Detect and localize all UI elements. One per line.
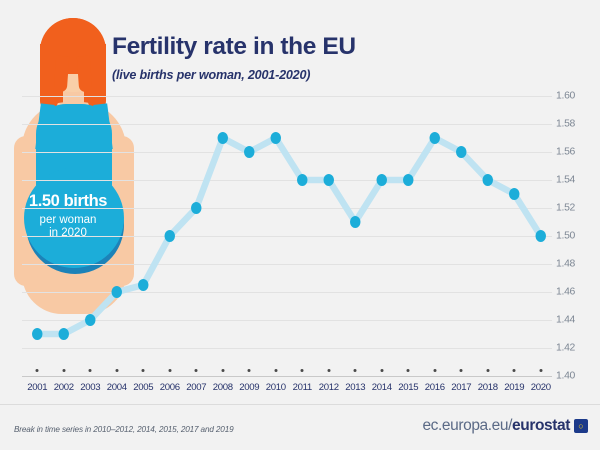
data-point-marker[interactable] <box>85 314 95 326</box>
x-axis-tick-dot <box>460 369 463 372</box>
x-axis-tick-dot <box>248 369 251 372</box>
x-axis-tick-dot <box>513 369 516 372</box>
x-axis-tick-dot <box>36 369 39 372</box>
x-axis-tick-dot <box>89 369 92 372</box>
x-axis-tick-label: 2008 <box>213 382 233 393</box>
hair-middle-left-strand <box>54 56 69 93</box>
x-axis-tick-label: 2009 <box>239 382 259 393</box>
title-block: Fertility rate in the EU (live births pe… <box>112 33 542 75</box>
x-axis-line <box>22 376 552 377</box>
data-point-marker[interactable] <box>350 216 360 228</box>
data-point-marker[interactable] <box>509 188 519 200</box>
footer: Break in time series in 2010–2012, 2014,… <box>0 405 600 450</box>
x-axis-tick-label: 2007 <box>186 382 206 393</box>
footnote-text: Break in time series in 2010–2012, 2014,… <box>14 425 234 434</box>
x-axis-tick-label: 2004 <box>107 382 127 393</box>
data-point-marker[interactable] <box>244 146 254 158</box>
x-axis-tick-dot <box>62 369 65 372</box>
y-axis-tick-label: 1.44 <box>556 315 575 326</box>
brand-text: ec.europa.eu/eurostat <box>422 417 570 435</box>
page-title: Fertility rate in the EU <box>112 33 356 61</box>
x-axis-tick-dot <box>327 369 330 372</box>
x-axis-tick-label: 2005 <box>133 382 153 393</box>
x-axis-tick-dot <box>380 369 383 372</box>
y-axis-tick-label: 1.58 <box>556 119 575 130</box>
x-axis-tick-dot <box>539 369 542 372</box>
data-point-marker[interactable] <box>32 328 42 340</box>
fertility-line-chart <box>22 96 552 376</box>
x-axis-tick-label: 2003 <box>80 382 100 393</box>
data-point-marker[interactable] <box>403 174 413 186</box>
data-point-marker[interactable] <box>483 174 493 186</box>
y-axis-tick-label: 1.60 <box>556 91 575 102</box>
x-axis-tick-dot <box>221 369 224 372</box>
data-point-marker[interactable] <box>191 202 201 214</box>
x-axis-tick-label: 2015 <box>398 382 418 393</box>
data-point-marker[interactable] <box>218 132 228 144</box>
data-point-marker[interactable] <box>377 174 387 186</box>
x-axis-tick-dot <box>115 369 118 372</box>
chart-plot-area <box>22 96 552 376</box>
data-point-marker[interactable] <box>271 132 281 144</box>
x-axis-tick-label: 2017 <box>451 382 471 393</box>
data-point-marker[interactable] <box>324 174 334 186</box>
y-axis-tick-label: 1.50 <box>556 231 575 242</box>
x-axis-tick-dot <box>274 369 277 372</box>
y-axis-tick-label: 1.46 <box>556 287 575 298</box>
data-point-marker[interactable] <box>456 146 466 158</box>
y-axis-tick-label: 1.56 <box>556 147 575 158</box>
data-point-marker[interactable] <box>430 132 440 144</box>
x-axis-tick-dot <box>354 369 357 372</box>
data-point-marker[interactable] <box>59 328 69 340</box>
x-axis-tick-dot <box>142 369 145 372</box>
x-axis-tick-dot <box>168 369 171 372</box>
x-axis-tick-dot <box>433 369 436 372</box>
x-axis-tick-label: 2012 <box>319 382 339 393</box>
x-axis-tick-dot <box>407 369 410 372</box>
data-point-marker[interactable] <box>165 230 175 242</box>
x-axis-tick-label: 2010 <box>266 382 286 393</box>
x-axis-tick-dot <box>301 369 304 372</box>
x-axis-tick-label: 2014 <box>372 382 392 393</box>
data-point-marker[interactable] <box>112 286 122 298</box>
x-axis-tick-label: 2013 <box>345 382 365 393</box>
y-axis-labels: 1.601.581.561.541.521.501.481.461.441.42… <box>556 90 596 382</box>
x-axis-tick-label: 2006 <box>160 382 180 393</box>
x-axis-tick-label: 2002 <box>54 382 74 393</box>
x-axis-tick-label: 2001 <box>27 382 47 393</box>
series-line <box>37 138 541 334</box>
x-axis-tick-label: 2011 <box>293 382 312 393</box>
y-axis-tick-label: 1.42 <box>556 343 575 354</box>
infographic-canvas: 1.50 births per woman in 2020 Fertility … <box>0 0 600 450</box>
x-axis-tick-dot <box>486 369 489 372</box>
data-point-marker[interactable] <box>138 279 148 291</box>
x-axis-tick-label: 2016 <box>425 382 445 393</box>
page-subtitle: (live births per woman, 2001-2020) <box>112 68 310 82</box>
brand-prefix: ec.europa.eu/ <box>422 417 512 434</box>
data-point-marker[interactable] <box>297 174 307 186</box>
y-axis-tick-label: 1.54 <box>556 175 575 186</box>
data-point-marker[interactable] <box>536 230 546 242</box>
x-axis-tick-label: 2018 <box>478 382 498 393</box>
x-axis-tick-label: 2019 <box>504 382 524 393</box>
x-axis-tick-dot <box>195 369 198 372</box>
eurostat-branding[interactable]: ec.europa.eu/eurostat ○ <box>422 417 588 435</box>
y-axis-tick-label: 1.48 <box>556 259 575 270</box>
y-axis-tick-label: 1.52 <box>556 203 575 214</box>
x-axis-labels: 2001200220032004200520062007200820092010… <box>0 378 600 396</box>
brand-name: eurostat <box>512 417 570 434</box>
eu-flag-icon: ○ <box>574 419 588 433</box>
x-axis-tick-label: 2020 <box>531 382 551 393</box>
hair-middle-right-strand <box>77 56 92 93</box>
